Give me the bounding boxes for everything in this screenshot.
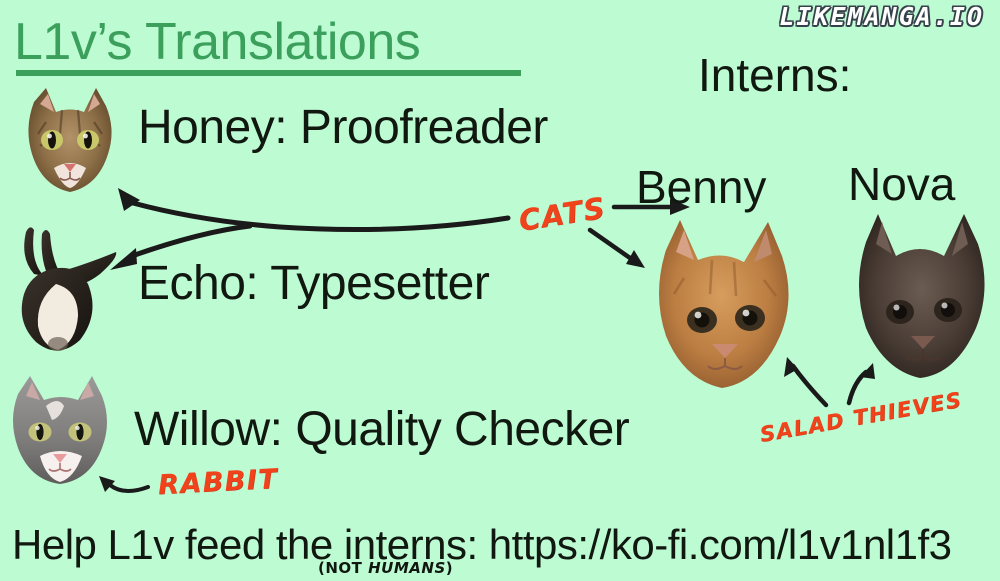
- staff-row-echo: Echo: Typesetter: [138, 256, 489, 311]
- footer-note-emphasis: HUMANS: [368, 559, 446, 577]
- staff-row-honey: Honey: Proofreader: [138, 100, 548, 155]
- arrow-cats-to-benny-line: [590, 230, 630, 258]
- meme-credits-image: LIKEMANGA.IO L1v’s Translations Interns:…: [0, 0, 1000, 581]
- footer-note: (NOT HUMANS): [318, 559, 453, 577]
- arrow-cats-to-echo-line: [132, 226, 250, 256]
- echo-rabbit-photo: [4, 218, 124, 358]
- intern-name-benny: Benny: [636, 160, 766, 214]
- footer-note-suffix: ): [446, 559, 453, 577]
- footer-note-prefix: (NOT: [318, 559, 368, 577]
- staff-row-willow: Willow: Quality Checker: [134, 402, 629, 457]
- annotation-salad-thieves: SALAD THIEVES: [758, 388, 964, 447]
- willow-cat-photo: [2, 372, 120, 486]
- arrow-cats-to-honey-line: [133, 203, 508, 230]
- honey-cat-photo: [16, 82, 124, 194]
- page-title: L1v’s Translations: [14, 12, 420, 72]
- title-underline: [16, 70, 521, 76]
- interns-section-heading: Interns:: [698, 48, 851, 102]
- site-watermark: LIKEMANGA.IO: [779, 2, 984, 31]
- annotation-cats: CATS: [516, 191, 608, 238]
- intern-name-nova: Nova: [848, 157, 955, 211]
- nova-kitten-photo: [848, 212, 994, 380]
- benny-kitten-photo: [640, 216, 804, 390]
- annotation-rabbit: RABBIT: [157, 464, 279, 501]
- support-link-line[interactable]: Help L1v feed the interns: https://ko-fi…: [12, 521, 952, 569]
